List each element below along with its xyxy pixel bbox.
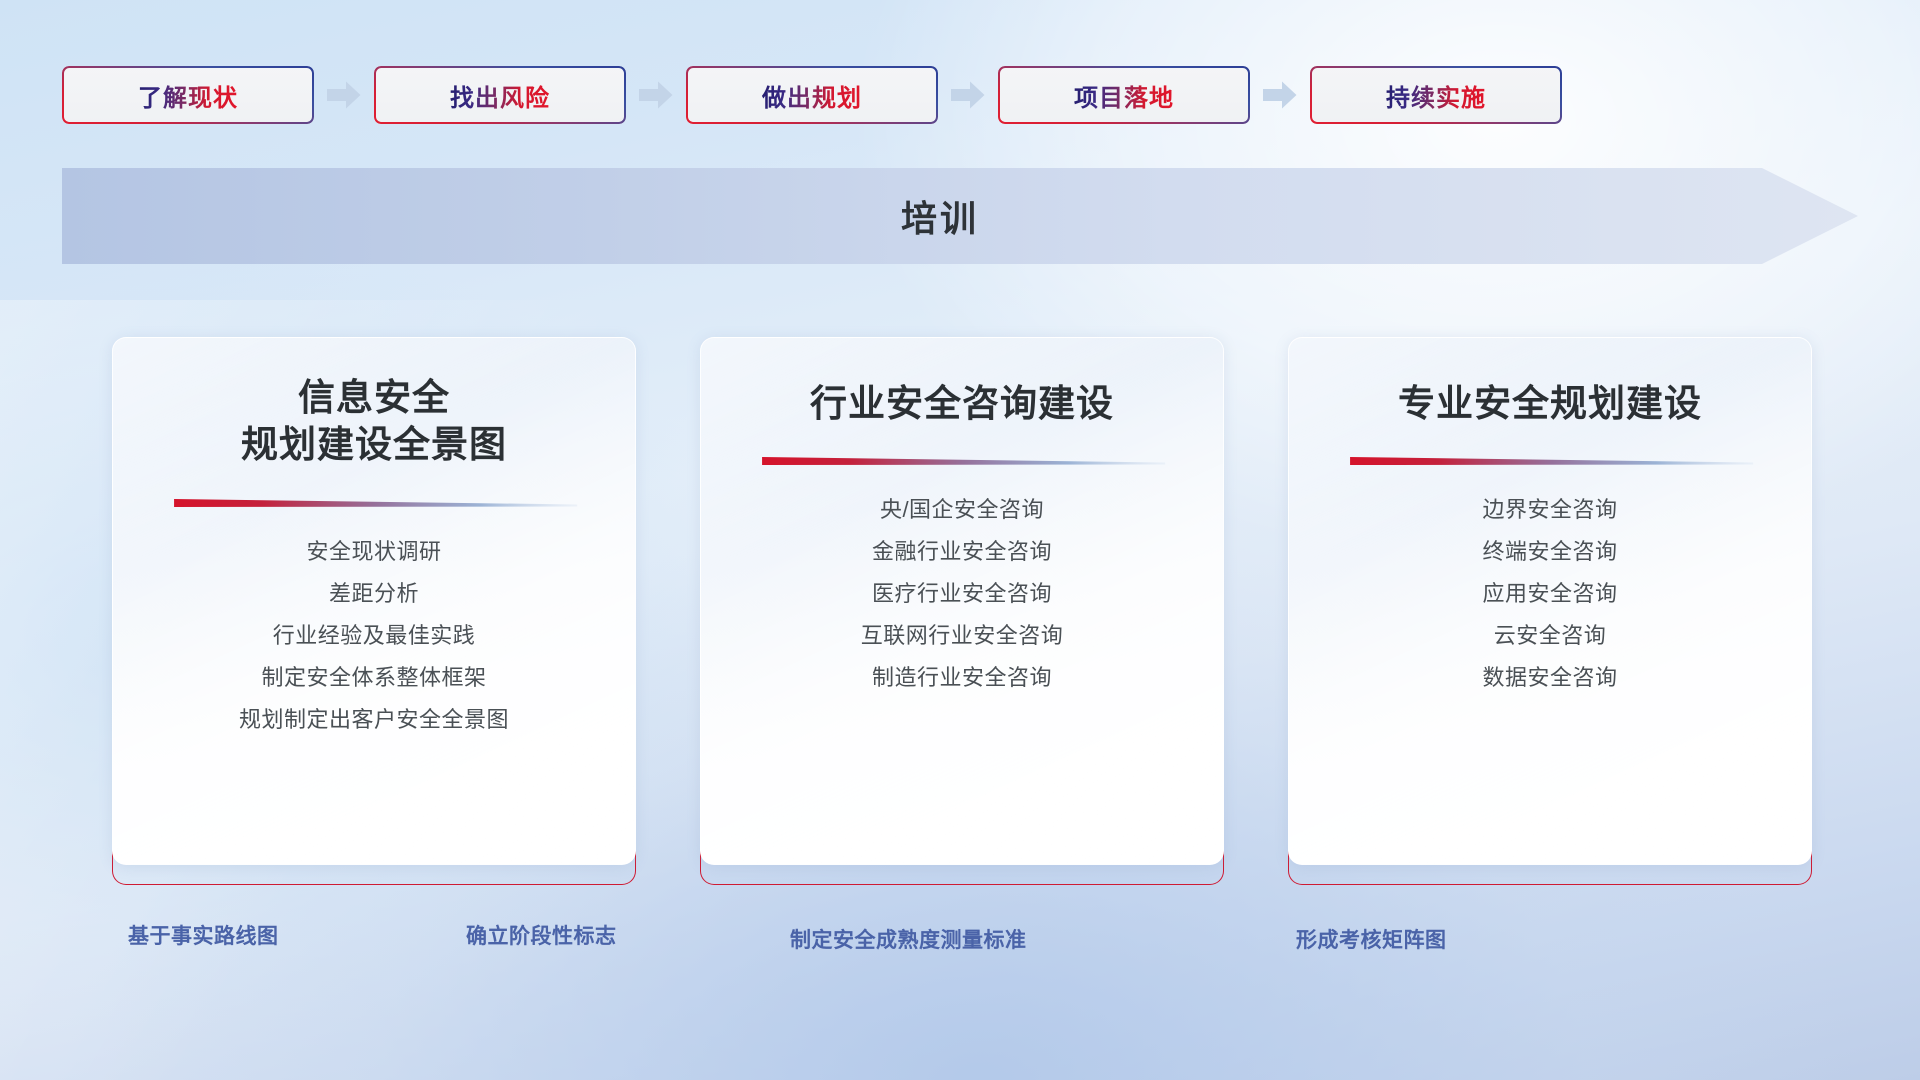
arrow-right-icon (1263, 80, 1297, 110)
infographic-canvas: 了解现状 找出风险 做出规划 项目落地 持续实施 (0, 0, 1920, 1080)
card-wrapper-1: 信息安全 规划建设全景图 (112, 337, 636, 897)
card-wrapper-3: 专业安全规划建设 (1288, 337, 1812, 897)
card-wrapper-2: 行业安全咨询建设 (700, 337, 1224, 897)
arrow-right-icon (951, 80, 985, 110)
process-step-label: 做出规划 (762, 78, 862, 113)
list-item: 数据安全咨询 (1289, 657, 1811, 699)
card-divider (170, 495, 577, 509)
list-item: 医疗行业安全咨询 (701, 573, 1223, 615)
process-step-1[interactable]: 了解现状 (62, 66, 314, 124)
caption-4: 形成考核矩阵图 (1296, 924, 1447, 954)
list-item: 边界安全咨询 (1289, 489, 1811, 531)
card-3[interactable]: 专业安全规划建设 (1288, 337, 1812, 865)
process-step-5[interactable]: 持续实施 (1310, 66, 1562, 124)
list-item: 云安全咨询 (1289, 615, 1811, 657)
card-2[interactable]: 行业安全咨询建设 (700, 337, 1224, 865)
list-item: 金融行业安全咨询 (701, 531, 1223, 573)
arrow-right-icon (639, 80, 673, 110)
caption-1: 基于事实路线图 (128, 920, 279, 950)
list-item: 终端安全咨询 (1289, 531, 1811, 573)
arrow-right-icon (327, 80, 361, 110)
process-step-label: 找出风险 (450, 78, 550, 113)
card-row: 信息安全 规划建设全景图 (112, 337, 1812, 897)
list-item: 央/国企安全咨询 (701, 489, 1223, 531)
process-step-3[interactable]: 做出规划 (686, 66, 938, 124)
list-item: 安全现状调研 (113, 531, 635, 573)
list-item: 应用安全咨询 (1289, 573, 1811, 615)
process-step-label: 项目落地 (1074, 78, 1174, 113)
caption-3: 制定安全成熟度测量标准 (790, 924, 1027, 954)
list-item: 互联网行业安全咨询 (701, 615, 1223, 657)
caption-2: 确立阶段性标志 (466, 920, 617, 950)
list-item: 规划制定出客户安全全景图 (113, 699, 635, 741)
card-divider (1346, 453, 1753, 467)
training-banner: 培训 (62, 168, 1858, 264)
process-step-label: 持续实施 (1386, 78, 1486, 113)
list-item: 制造行业安全咨询 (701, 657, 1223, 699)
card-item-list: 边界安全咨询 终端安全咨询 应用安全咨询 云安全咨询 数据安全咨询 (1289, 489, 1811, 699)
process-step-label: 了解现状 (138, 78, 238, 113)
card-1[interactable]: 信息安全 规划建设全景图 (112, 337, 636, 865)
card-item-list: 央/国企安全咨询 金融行业安全咨询 医疗行业安全咨询 互联网行业安全咨询 制造行… (701, 489, 1223, 699)
process-step-row: 了解现状 找出风险 做出规划 项目落地 持续实施 (62, 66, 1858, 124)
card-title: 行业安全咨询建设 (810, 380, 1114, 427)
process-step-2[interactable]: 找出风险 (374, 66, 626, 124)
list-item: 差距分析 (113, 573, 635, 615)
card-item-list: 安全现状调研 差距分析 行业经验及最佳实践 制定安全体系整体框架 规划制定出客户… (113, 531, 635, 741)
card-title: 专业安全规划建设 (1398, 380, 1702, 427)
process-step-4[interactable]: 项目落地 (998, 66, 1250, 124)
card-divider (758, 453, 1165, 467)
card-title: 信息安全 规划建设全景图 (241, 374, 507, 469)
list-item: 行业经验及最佳实践 (113, 615, 635, 657)
list-item: 制定安全体系整体框架 (113, 657, 635, 699)
training-banner-label: 培训 (62, 168, 1858, 264)
